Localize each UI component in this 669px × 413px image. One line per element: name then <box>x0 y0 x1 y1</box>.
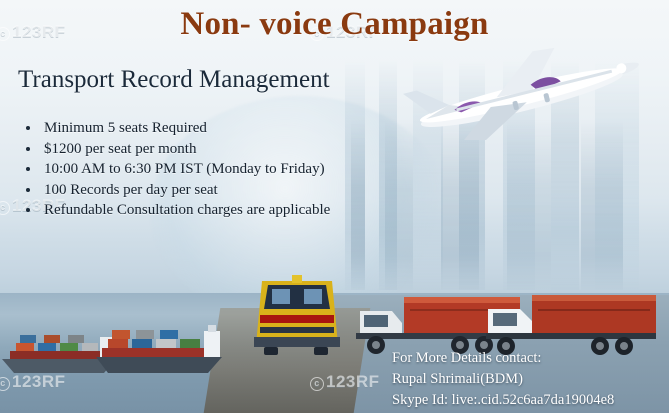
slide-title: Non- voice Campaign <box>0 6 669 43</box>
cargo-ship-icon-2 <box>96 323 226 375</box>
list-item: $1200 per seat per month <box>18 139 448 160</box>
list-item: 10:00 AM to 6:30 PM IST (Monday to Frida… <box>18 159 448 180</box>
contact-name: Rupal Shrimali(BDM) <box>392 369 614 390</box>
bullet-list: Minimum 5 seats Required $1200 per seat … <box>18 118 448 221</box>
list-item: Minimum 5 seats Required <box>18 118 448 139</box>
train-icon <box>246 275 350 361</box>
contact-block: For More Details contact: Rupal Shrimali… <box>392 348 614 411</box>
contact-skype: Skype Id: live:.cid.52c6aa7da19004e8 <box>392 390 614 411</box>
contact-heading: For More Details contact: <box>392 348 614 369</box>
slide-subtitle: Transport Record Management <box>18 66 330 94</box>
list-item: Refundable Consultation charges are appl… <box>18 200 448 221</box>
list-item: 100 Records per day per seat <box>18 180 448 201</box>
presentation-slide: c123RF c123RF c123RF c123RF c123RF Non- … <box>0 0 669 413</box>
